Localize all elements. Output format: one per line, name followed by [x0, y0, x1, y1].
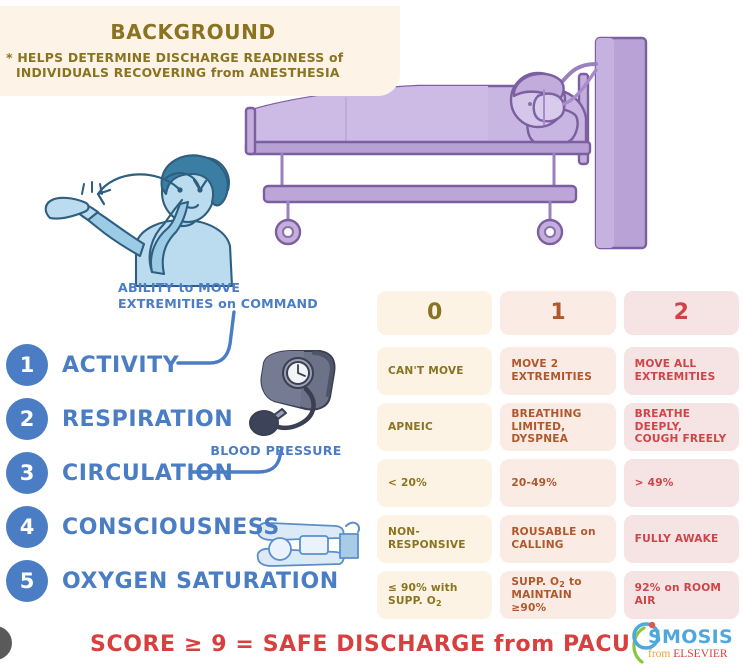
criterion-number-badge: 1: [6, 344, 48, 386]
ability-word-command: COMMAND: [241, 296, 318, 311]
table-cell-oxygen-1: SUPP. O2 to MAINTAIN ≥90%: [500, 571, 615, 619]
score-expression: ≥ 9 = SAFE DISCHARGE: [184, 632, 486, 657]
table-row: < 20% 20-49% > 49%: [377, 459, 739, 507]
table-header-1: 1: [500, 291, 615, 335]
table-header-row: 0 1 2: [377, 291, 739, 335]
table-cell-oxygen-2: 92% on ROOM AIR: [624, 571, 739, 619]
score-discharge-statement: SCORE ≥ 9 = SAFE DISCHARGE from PACU: [90, 632, 610, 657]
table-header-2: 2: [624, 291, 739, 335]
score-word: SCORE: [90, 632, 176, 657]
criterion-number-badge: 3: [6, 452, 48, 494]
background-line1-connector: of: [329, 50, 343, 65]
criterion-oxygen-saturation: 5 OXYGEN SATURATION: [6, 560, 339, 602]
criterion-circulation: 3 CIRCULATION: [6, 452, 234, 494]
ability-word-1: ABILITY: [118, 280, 174, 295]
cell-text-connector: to: [569, 576, 582, 588]
criterion-label: RESPIRATION: [62, 407, 233, 432]
ability-word-extremities: EXTREMITIES: [118, 296, 214, 311]
table-cell-activity-0: CAN'T MOVE: [377, 347, 492, 395]
background-line2-tail: ANESTHESIA: [249, 65, 339, 80]
infographic-canvas: BACKGROUND * HELPS DETERMINE DISCHARGE R…: [0, 0, 743, 671]
table-cell-consciousness-1: ROUSABLE on CALLING: [500, 515, 615, 563]
background-body-text: * HELPS DETERMINE DISCHARGE READINESS of…: [6, 50, 386, 80]
cell-text-connector: with: [431, 582, 458, 594]
ability-to-move-caption: ABILITY to MOVE EXTREMITIES on COMMAND: [118, 280, 348, 311]
table-cell-respiration-2: BREATHE DEEPLY, COUGH FREELY: [624, 403, 739, 451]
score-connector: from: [494, 632, 555, 657]
table-row: NON-RESPONSIVE ROUSABLE on CALLING FULLY…: [377, 515, 739, 563]
table-cell-oxygen-0: ≤ 90% with SUPP. O2: [377, 571, 492, 619]
page-edge-decoration: [0, 626, 12, 660]
ability-word-on: on: [218, 296, 236, 311]
background-title: BACKGROUND: [0, 20, 400, 44]
background-line2-connector: from: [211, 65, 245, 80]
logo-publisher-name: ELSEVIER: [673, 648, 727, 660]
cell-text-pre: SUPP. O: [511, 576, 559, 588]
table-cell-consciousness-0: NON-RESPONSIVE: [377, 515, 492, 563]
blood-pressure-cuff-illustration: [248, 345, 358, 445]
criterion-label: CIRCULATION: [62, 461, 234, 486]
table-row: ≤ 90% with SUPP. O2 SUPP. O2 to MAINTAIN…: [377, 571, 739, 619]
criterion-number-badge: 5: [6, 560, 48, 602]
table-cell-respiration-0: APNEIC: [377, 403, 492, 451]
criterion-number-badge: 2: [6, 398, 48, 440]
table-row: CAN'T MOVE MOVE 2 EXTREMITIES MOVE ALL E…: [377, 347, 739, 395]
finger-to-nose-illustration: [40, 148, 266, 288]
cell-text-pre: ROUSABLE: [511, 526, 576, 538]
ability-word-to: to: [178, 280, 193, 295]
cell-subscript: 2: [436, 599, 442, 608]
score-location: PACU: [563, 632, 631, 657]
background-line2-main: INDIVIDUALS RECOVERING: [6, 65, 206, 80]
table-cell-circulation-1: 20-49%: [500, 459, 615, 507]
bullet-marker: *: [6, 50, 13, 65]
background-callout-box: BACKGROUND * HELPS DETERMINE DISCHARGE R…: [0, 6, 400, 96]
table-cell-circulation-2: > 49%: [624, 459, 739, 507]
criterion-consciousness: 4 CONSCIOUSNESS: [6, 506, 280, 548]
osmosis-logo: SMOSIS from ELSEVIER: [626, 622, 738, 668]
osmosis-publisher-line: from ELSEVIER: [648, 648, 728, 660]
cell-text-post: SUPP. O: [388, 595, 436, 607]
table-cell-circulation-0: < 20%: [377, 459, 492, 507]
criterion-respiration: 2 RESPIRATION: [6, 398, 233, 440]
criterion-activity: 1 ACTIVITY: [6, 344, 179, 386]
criterion-label: OXYGEN SATURATION: [62, 569, 339, 594]
cell-text-post: MAINTAIN ≥90%: [511, 589, 572, 614]
cell-text-connector: on: [580, 526, 595, 538]
cell-subscript: 2: [559, 580, 565, 589]
table-cell-consciousness-2: FULLY AWAKE: [624, 515, 739, 563]
table-cell-respiration-1: BREATHING LIMITED, DYSPNEA: [500, 403, 615, 451]
background-line1-main: HELPS DETERMINE DISCHARGE READINESS: [17, 50, 324, 65]
osmosis-wordmark: SMOSIS: [648, 626, 733, 648]
table-cell-activity-2: MOVE ALL EXTREMITIES: [624, 347, 739, 395]
logo-from-word: from: [648, 648, 670, 660]
criterion-number-badge: 4: [6, 506, 48, 548]
cell-text-connector: on: [665, 582, 680, 594]
cell-text-pre: 92%: [635, 582, 661, 594]
table-header-0: 0: [377, 291, 492, 335]
table-cell-activity-1: MOVE 2 EXTREMITIES: [500, 347, 615, 395]
table-row: APNEIC BREATHING LIMITED, DYSPNEA BREATH…: [377, 403, 739, 451]
ability-word-move: MOVE: [198, 280, 240, 295]
criterion-label: CONSCIOUSNESS: [62, 515, 280, 540]
cell-text-post: CALLING: [511, 539, 563, 551]
cell-text-pre: ≤ 90%: [388, 582, 427, 594]
criterion-label: ACTIVITY: [62, 353, 179, 378]
